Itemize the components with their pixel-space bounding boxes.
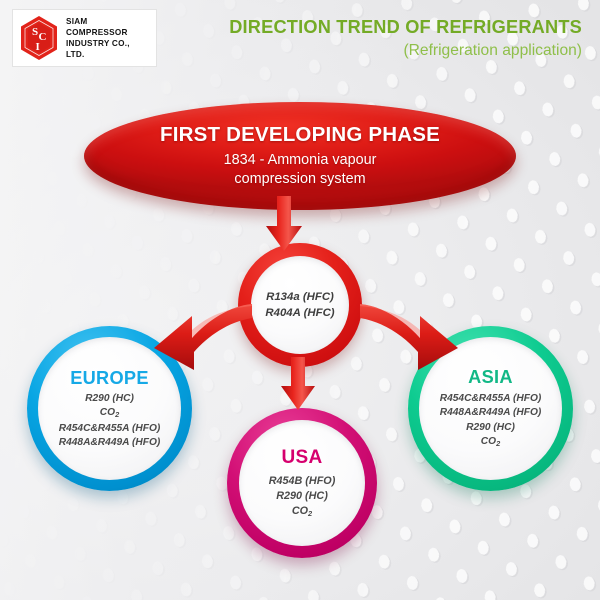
company-logo: S C I SIAM COMPRESSOR INDUSTRY CO., LTD. — [12, 9, 157, 67]
center-line-2: R404A (HFC) — [265, 305, 334, 321]
region-circle-usa: USA R454B (HFO) R290 (HC) CO2 — [227, 408, 377, 558]
page-subtitle: (Refrigeration application) — [229, 40, 582, 61]
list-item: R454B (HFO) — [269, 474, 336, 489]
phase-title: FIRST DEVELOPING PHASE — [160, 123, 440, 147]
first-developing-phase-banner: FIRST DEVELOPING PHASE 1834 - Ammonia va… — [84, 102, 516, 210]
usa-circle-inner: USA R454B (HFO) R290 (HC) CO2 — [239, 420, 365, 546]
logo-text-block: SIAM COMPRESSOR INDUSTRY CO., LTD. — [66, 16, 150, 60]
page-title: DIRECTION TREND OF REFRIGERANTS — [229, 16, 582, 38]
list-item: R448A&R449A (HFO) — [440, 406, 542, 420]
arrow-curve-right-icon-center-to-asia — [352, 300, 464, 372]
list-item: CO2 — [100, 406, 119, 422]
region-title-europe: EUROPE — [70, 367, 149, 389]
list-item: R454C&R455A (HFO) — [59, 422, 161, 436]
infographic-canvas: S C I SIAM COMPRESSOR INDUSTRY CO., LTD.… — [0, 0, 600, 600]
logo-line-2: INDUSTRY CO., LTD. — [66, 38, 150, 60]
list-item: R290 (HC) — [85, 392, 134, 406]
svg-text:I: I — [36, 41, 40, 53]
header-title-block: DIRECTION TREND OF REFRIGERANTS (Refrige… — [229, 16, 582, 61]
sci-hexagon-logo-icon: S C I — [19, 15, 59, 61]
list-item: R448A&R449A (HFO) — [59, 436, 161, 450]
logo-line-1: SIAM COMPRESSOR — [66, 16, 150, 38]
arrow-down-icon-center-to-usa — [277, 357, 319, 415]
arrow-down-icon-phase-to-center — [262, 196, 306, 256]
list-item: CO2 — [292, 504, 312, 521]
list-item: R454C&R455A (HFO) — [440, 392, 542, 406]
list-item: CO2 — [481, 435, 500, 451]
region-title-asia: ASIA — [468, 366, 513, 388]
list-item: R290 (HC) — [466, 421, 515, 435]
phase-line-1: 1834 - Ammonia vapour — [224, 152, 377, 168]
phase-line-2: compression system — [234, 171, 365, 187]
svg-text:S: S — [32, 26, 38, 38]
center-circle-inner: R134a (HFC) R404A (HFC) — [251, 256, 349, 354]
region-title-usa: USA — [281, 446, 322, 469]
list-item: R290 (HC) — [276, 489, 328, 504]
arrow-curve-left-icon-center-to-europe — [148, 300, 258, 372]
phase-description: 1834 - Ammonia vapour compression system — [224, 151, 377, 189]
center-line-1: R134a (HFC) — [266, 289, 334, 305]
